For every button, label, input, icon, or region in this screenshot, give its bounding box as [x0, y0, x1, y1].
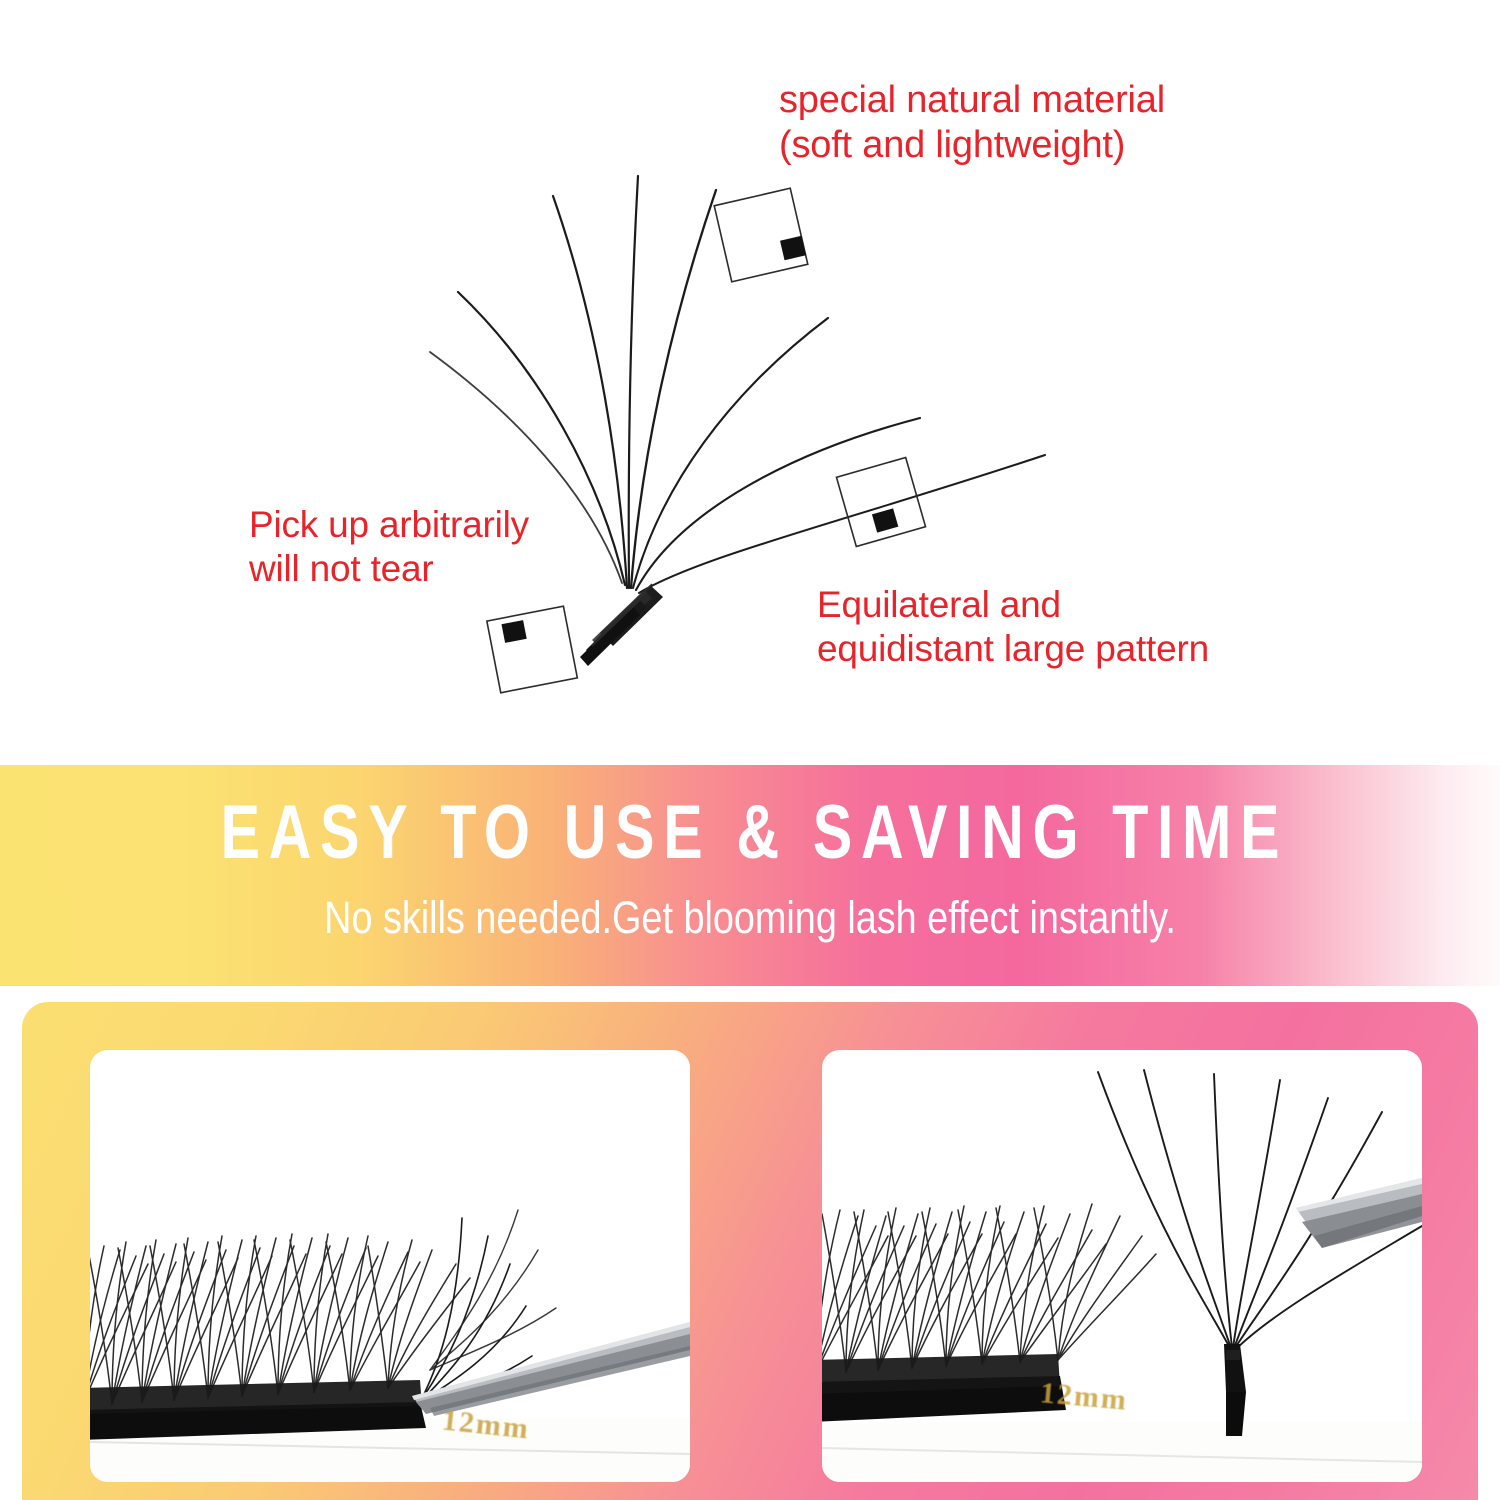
photo-card-tray-with-tweezer: 12mm — [90, 1050, 690, 1482]
callout-marker-2 — [836, 457, 925, 546]
callout-equilateral-equidistant: Equilateral and equidistant large patter… — [817, 583, 1209, 670]
banner-title: EASY TO USE & SAVING TIME — [165, 795, 1335, 871]
photo-frame: 12mm — [22, 1002, 1478, 1500]
lash-diagram-section: special natural material (soft and light… — [0, 0, 1500, 765]
callout-marker-1 — [714, 188, 808, 282]
callout-pick-up-arbitrarily: Pick up arbitrarily will not tear — [249, 503, 529, 590]
banner-subtitle: No skills needed.Get blooming lash effec… — [120, 893, 1380, 943]
lash-base-bundle — [580, 584, 663, 666]
callout-marker-3 — [487, 606, 577, 693]
lash-fan-illustration — [0, 0, 1500, 765]
photo-tray-with-tweezer-image — [90, 1050, 690, 1482]
photo-card-fan-lifted: 12mm — [822, 1050, 1422, 1482]
callout-special-natural-material: special natural material (soft and light… — [779, 78, 1165, 168]
headline-banner: EASY TO USE & SAVING TIME No skills need… — [0, 765, 1500, 986]
product-photos-section: 12mm — [0, 986, 1500, 1500]
